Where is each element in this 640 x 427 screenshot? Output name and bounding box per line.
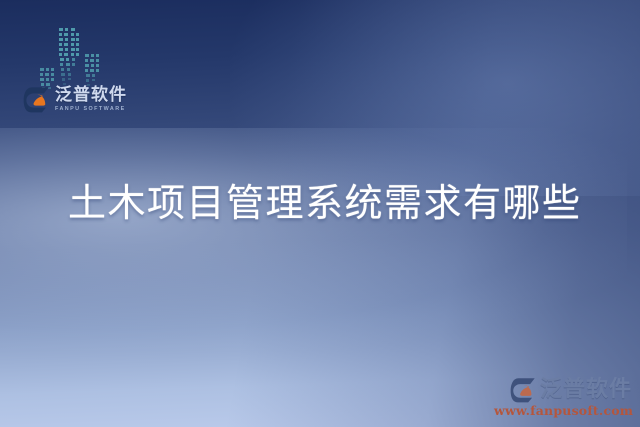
- brand-logo: 泛普软件 FANPU SOFTWARE: [23, 86, 127, 113]
- watermark-brand-row: 泛普软件: [494, 377, 632, 403]
- watermark: 泛普软件 www.fanpusoft.com: [494, 377, 632, 418]
- watermark-url: www.fanpusoft.com: [494, 405, 632, 418]
- brand-text: 泛普软件 FANPU SOFTWARE: [55, 87, 127, 112]
- brand-name-en: FANPU SOFTWARE: [55, 107, 127, 112]
- page-title: 土木项目管理系统需求有哪些: [68, 180, 582, 226]
- presentation-slide: 泛普软件 FANPU SOFTWARE 土木项目管理系统需求有哪些 泛普软件 w…: [0, 0, 640, 427]
- brand-name-cn: 泛普软件: [55, 87, 127, 104]
- watermark-name-cn: 泛普软件: [540, 379, 632, 401]
- fanpu-logo-mark: [23, 86, 50, 113]
- city-skyline-icon: [38, 20, 106, 90]
- watermark-logo-mark: [510, 377, 536, 403]
